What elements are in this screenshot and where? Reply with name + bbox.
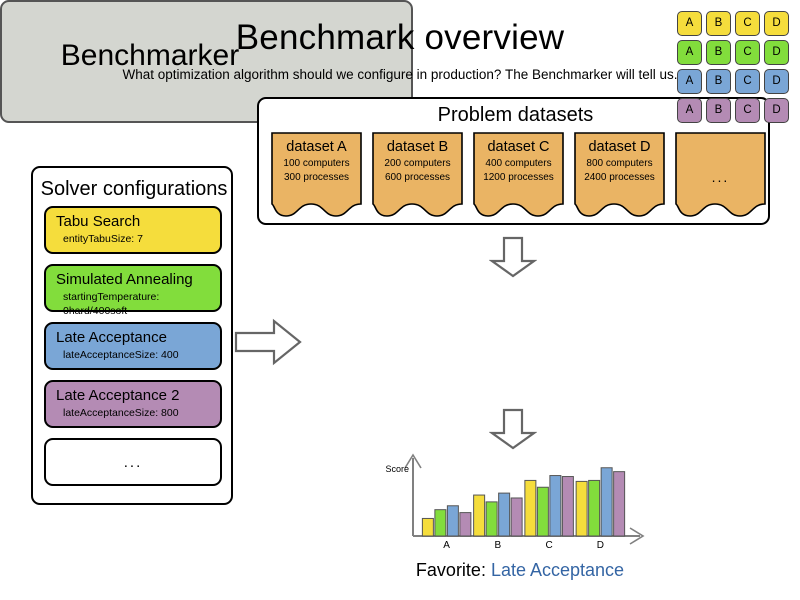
benchmark-chip[interactable]: C [735, 40, 760, 65]
benchmark-chip[interactable]: B [706, 69, 731, 94]
benchmark-chip[interactable]: A [677, 40, 702, 65]
arrow-down-icon [489, 236, 537, 283]
favorite-label: Favorite: [416, 560, 486, 580]
dataset-computers: 200 computers [372, 157, 463, 171]
chart-bar [576, 481, 587, 536]
solver-config-card-more[interactable]: ... [44, 438, 222, 486]
chart-bar [511, 498, 522, 536]
dataset-processes: 600 processes [372, 171, 463, 185]
solver-config-card-tabu-search[interactable]: Tabu Search entityTabuSize: 7 [44, 206, 222, 254]
chart-bar [499, 493, 510, 536]
dataset-card-more[interactable]: ... [675, 132, 766, 217]
dataset-processes: 300 processes [271, 171, 362, 185]
chart-canvas: ABCD Score [378, 450, 653, 555]
benchmark-chip[interactable]: A [677, 11, 702, 36]
benchmark-chip[interactable]: C [735, 11, 760, 36]
benchmark-chip[interactable]: D [764, 69, 789, 94]
benchmark-run-grid: A B C D A B C D A B C D A B C D [677, 11, 789, 123]
dataset-name: dataset A [271, 138, 362, 157]
arrow-down-icon [489, 408, 537, 455]
chart-xtick-label: B [495, 540, 502, 551]
chart-bar [474, 495, 485, 536]
dataset-card-a[interactable]: dataset A 100 computers 300 processes [271, 132, 362, 217]
solver-config-name: Simulated Annealing [46, 269, 220, 290]
chart-bar [460, 513, 471, 536]
chart-xtick-label: C [546, 540, 553, 551]
ellipsis-label: ... [675, 138, 766, 184]
benchmark-chip[interactable]: C [735, 98, 760, 123]
benchmark-overview-diagram: Benchmark overview What optimization alg… [0, 0, 800, 600]
dataset-name: dataset B [372, 138, 463, 157]
solver-config-param: startingTemperature: 0hard/400soft [46, 290, 220, 318]
benchmark-chip[interactable]: B [706, 98, 731, 123]
benchmark-chip[interactable]: D [764, 98, 789, 123]
problem-datasets-list: dataset A 100 computers 300 processes da… [271, 132, 766, 217]
solver-config-param: lateAcceptanceSize: 400 [46, 348, 220, 362]
dataset-name: dataset D [574, 138, 665, 157]
dataset-card-text: ... [675, 132, 766, 184]
solver-configurations-panel: Solver configurations Tabu Search entity… [31, 166, 233, 505]
benchmark-chip[interactable]: A [677, 69, 702, 94]
dataset-processes: 2400 processes [574, 171, 665, 185]
solver-config-card-late-acceptance-2[interactable]: Late Acceptance 2 lateAcceptanceSize: 80… [44, 380, 222, 428]
chart-xtick-label: A [443, 540, 450, 551]
benchmark-chip[interactable]: C [735, 69, 760, 94]
dataset-card-b[interactable]: dataset B 200 computers 600 processes [372, 132, 463, 217]
benchmark-chip[interactable]: D [764, 40, 789, 65]
benchmark-chip[interactable]: B [706, 11, 731, 36]
favorite-result: Favorite: Late Acceptance [330, 558, 710, 582]
solver-config-name: Late Acceptance 2 [46, 385, 220, 406]
chart-bar [435, 510, 446, 536]
favorite-value: Late Acceptance [491, 560, 624, 580]
solver-config-card-late-acceptance[interactable]: Late Acceptance lateAcceptanceSize: 400 [44, 322, 222, 370]
solver-config-card-simulated-annealing[interactable]: Simulated Annealing startingTemperature:… [44, 264, 222, 312]
chart-bar [589, 480, 600, 536]
solver-config-name: Tabu Search [46, 211, 220, 232]
benchmarker-label: Benchmarker [30, 36, 270, 76]
chart-bar [562, 477, 573, 536]
chart-bar [422, 518, 433, 536]
dataset-card-text: dataset A 100 computers 300 processes [271, 132, 362, 184]
solver-config-param: entityTabuSize: 7 [46, 232, 220, 246]
benchmark-result-chart: ABCD Score [378, 450, 653, 555]
chart-bar [447, 506, 458, 536]
dataset-computers: 400 computers [473, 157, 564, 171]
chart-bar [525, 480, 536, 536]
benchmark-chip[interactable]: D [764, 11, 789, 36]
chart-bar [550, 476, 561, 536]
arrow-right-icon [234, 318, 302, 371]
dataset-name: dataset C [473, 138, 564, 157]
dataset-card-text: dataset D 800 computers 2400 processes [574, 132, 665, 184]
chart-xtick-label: D [597, 540, 604, 551]
solver-config-name: Late Acceptance [46, 327, 220, 348]
dataset-card-text: dataset B 200 computers 600 processes [372, 132, 463, 184]
dataset-card-c[interactable]: dataset C 400 computers 1200 processes [473, 132, 564, 217]
chart-bar [601, 468, 612, 536]
chart-bar [537, 487, 548, 536]
dataset-processes: 1200 processes [473, 171, 564, 185]
chart-bar [614, 472, 625, 536]
benchmark-chip[interactable]: B [706, 40, 731, 65]
dataset-computers: 100 computers [271, 157, 362, 171]
solver-config-param: lateAcceptanceSize: 800 [46, 406, 220, 420]
ellipsis-label: ... [124, 455, 143, 470]
benchmark-chip[interactable]: A [677, 98, 702, 123]
dataset-card-d[interactable]: dataset D 800 computers 2400 processes [574, 132, 665, 217]
dataset-computers: 800 computers [574, 157, 665, 171]
solver-configurations-title: Solver configurations [33, 177, 235, 201]
dataset-card-text: dataset C 400 computers 1200 processes [473, 132, 564, 184]
svg-text:Score: Score [385, 464, 409, 474]
chart-bar [486, 502, 497, 536]
